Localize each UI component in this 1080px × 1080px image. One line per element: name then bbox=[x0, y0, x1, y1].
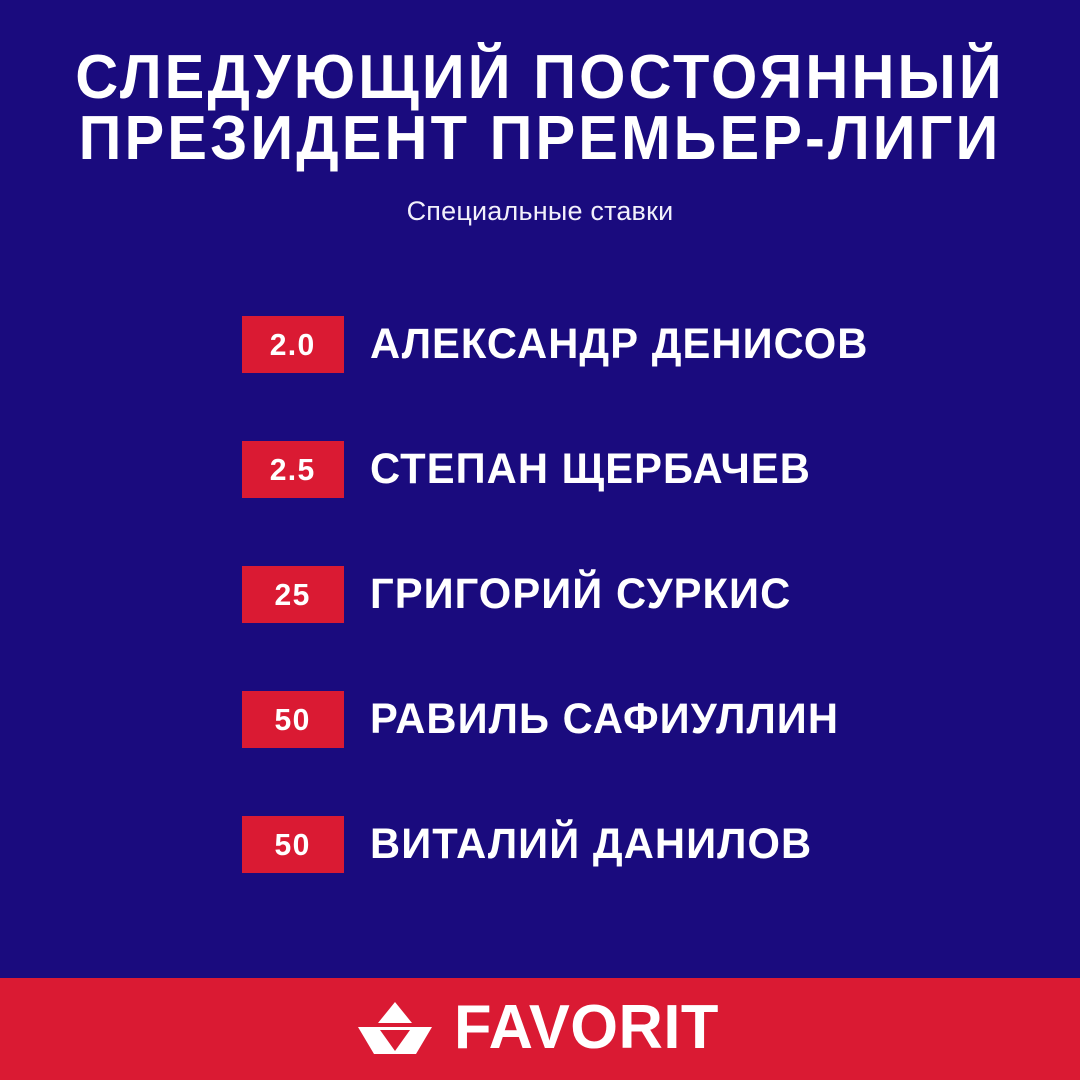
odds-badge[interactable]: 2.5 bbox=[242, 441, 344, 498]
odds-value: 50 bbox=[275, 704, 311, 735]
brand-logo[interactable]: FAVORIT bbox=[358, 997, 722, 1059]
odds-value: 50 bbox=[275, 829, 311, 860]
favorit-crown-icon bbox=[358, 1002, 432, 1054]
odds-badge[interactable]: 25 bbox=[242, 566, 344, 623]
odds-value: 25 bbox=[275, 579, 311, 610]
odds-row[interactable]: 2.0 АЛЕКСАНДР ДЕНИСОВ bbox=[242, 316, 1042, 373]
odds-badge[interactable]: 50 bbox=[242, 691, 344, 748]
poster-header: СЛЕДУЮЩИЙ ПОСТОЯННЫЙ ПРЕЗИДЕНТ ПРЕМЬЕР-Л… bbox=[0, 0, 1080, 227]
odds-row[interactable]: 2.5 СТЕПАН ЩЕРБАЧЕВ bbox=[242, 441, 1042, 498]
odds-candidate-name: АЛЕКСАНДР ДЕНИСОВ bbox=[370, 323, 869, 366]
brand-name: FAVORIT bbox=[454, 997, 719, 1059]
odds-candidate-name: ВИТАЛИЙ ДАНИЛОВ bbox=[370, 823, 812, 866]
odds-row[interactable]: 50 РАВИЛЬ САФИУЛЛИН bbox=[242, 691, 1042, 748]
page-title-line-2: ПРЕЗИДЕНТ ПРЕМЬЕР-ЛИГИ bbox=[22, 113, 1059, 165]
page-subtitle: Специальные ставки bbox=[0, 195, 1080, 227]
page-title-line-1: СЛЕДУЮЩИЙ ПОСТОЯННЫЙ bbox=[22, 52, 1059, 104]
odds-value: 2.0 bbox=[270, 329, 316, 360]
odds-row[interactable]: 25 ГРИГОРИЙ СУРКИС bbox=[242, 566, 1042, 623]
odds-value: 2.5 bbox=[270, 454, 316, 485]
odds-candidate-name: ГРИГОРИЙ СУРКИС bbox=[370, 573, 791, 616]
odds-candidate-name: РАВИЛЬ САФИУЛЛИН bbox=[370, 698, 839, 741]
odds-list: 2.0 АЛЕКСАНДР ДЕНИСОВ 2.5 СТЕПАН ЩЕРБАЧЕ… bbox=[242, 316, 1042, 873]
brand-footer: FAVORIT bbox=[0, 978, 1080, 1080]
odds-candidate-name: СТЕПАН ЩЕРБАЧЕВ bbox=[370, 448, 811, 491]
odds-badge[interactable]: 2.0 bbox=[242, 316, 344, 373]
odds-badge[interactable]: 50 bbox=[242, 816, 344, 873]
odds-row[interactable]: 50 ВИТАЛИЙ ДАНИЛОВ bbox=[242, 816, 1042, 873]
promo-poster: СЛЕДУЮЩИЙ ПОСТОЯННЫЙ ПРЕЗИДЕНТ ПРЕМЬЕР-Л… bbox=[0, 0, 1080, 1080]
